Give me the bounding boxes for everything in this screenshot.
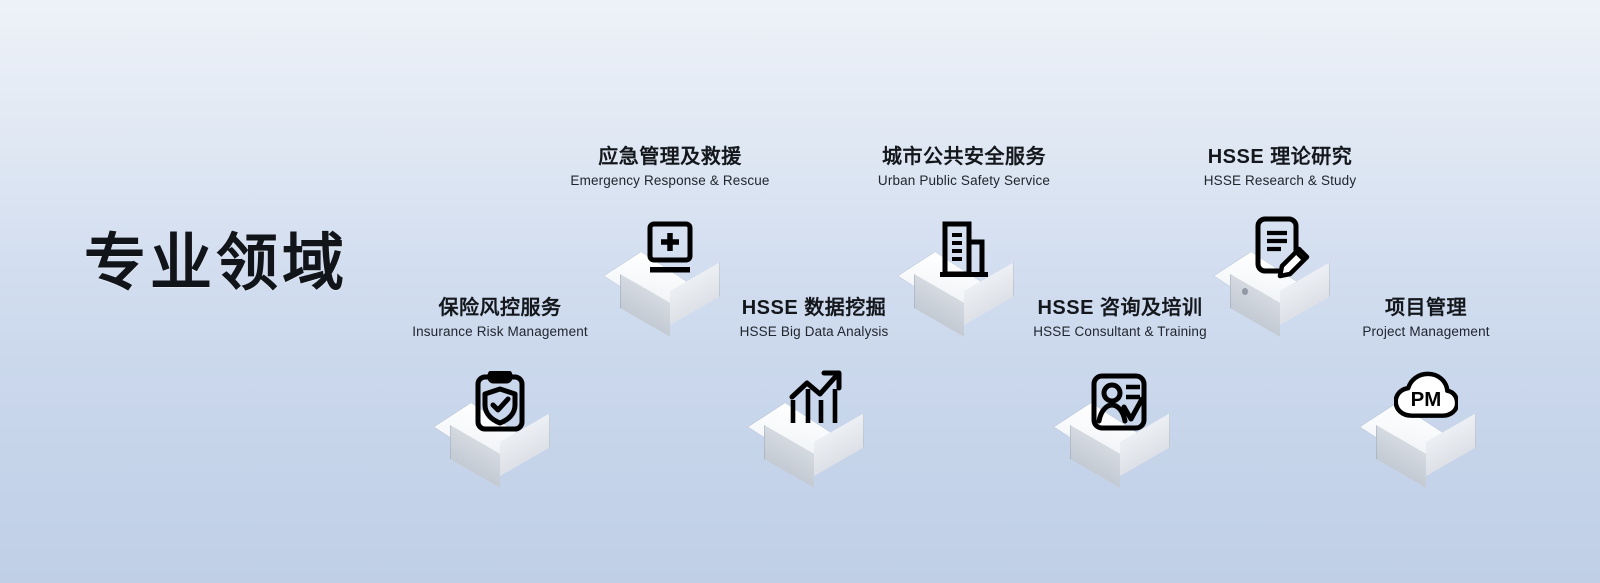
field-label-cn: HSSE 咨询及培训 <box>980 296 1260 321</box>
field-item-project[interactable]: 项目管理 Project Management PM <box>1286 296 1566 477</box>
field-label-en: Urban Public Safety Service <box>824 173 1104 190</box>
professional-fields-banner: { "page": { "title_cn": "专业领域", "backgro… <box>0 0 1600 583</box>
field-item-consult[interactable]: HSSE 咨询及培训 HSSE Consultant & Training <box>980 296 1260 477</box>
field-label-en: HSSE Consultant & Training <box>980 324 1260 341</box>
page-title: 专业领域 <box>84 228 348 299</box>
field-item-bigdata[interactable]: HSSE 数据挖掘 HSSE Big Data Analysis <box>674 296 954 477</box>
bar-chart-trend-arrow-icon <box>782 367 846 431</box>
field-label-cn: HSSE 理论研究 <box>1140 145 1420 170</box>
field-artwork <box>360 351 640 477</box>
field-artwork <box>980 351 1260 477</box>
cloud-pm-label: PM <box>1411 388 1442 411</box>
field-label-cn: HSSE 数据挖掘 <box>674 296 954 321</box>
field-label-cn: 保险风控服务 <box>360 296 640 321</box>
document-pencil-icon <box>1248 216 1312 280</box>
field-label-en: Insurance Risk Management <box>360 324 640 341</box>
field-label-cn: 项目管理 <box>1286 296 1566 321</box>
medical-cross-monitor-icon <box>638 220 702 284</box>
pedestal-accent-dot <box>1242 288 1248 295</box>
field-artwork: PM <box>1286 351 1566 477</box>
field-label-en: HSSE Research & Study <box>1140 173 1420 190</box>
id-card-person-check-icon <box>1088 371 1152 435</box>
field-item-insurance[interactable]: 保险风控服务 Insurance Risk Management <box>360 296 640 477</box>
clipboard-shield-check-icon <box>468 371 532 435</box>
field-label-cn: 城市公共安全服务 <box>824 145 1104 170</box>
field-artwork <box>674 351 954 477</box>
field-label-en: Emergency Response & Rescue <box>530 173 810 190</box>
field-label-en: Project Management <box>1286 324 1566 341</box>
city-buildings-icon <box>932 220 996 284</box>
cloud-pm-icon: PM <box>1394 365 1458 429</box>
field-label-cn: 应急管理及救援 <box>530 145 810 170</box>
field-label-en: HSSE Big Data Analysis <box>674 324 954 341</box>
